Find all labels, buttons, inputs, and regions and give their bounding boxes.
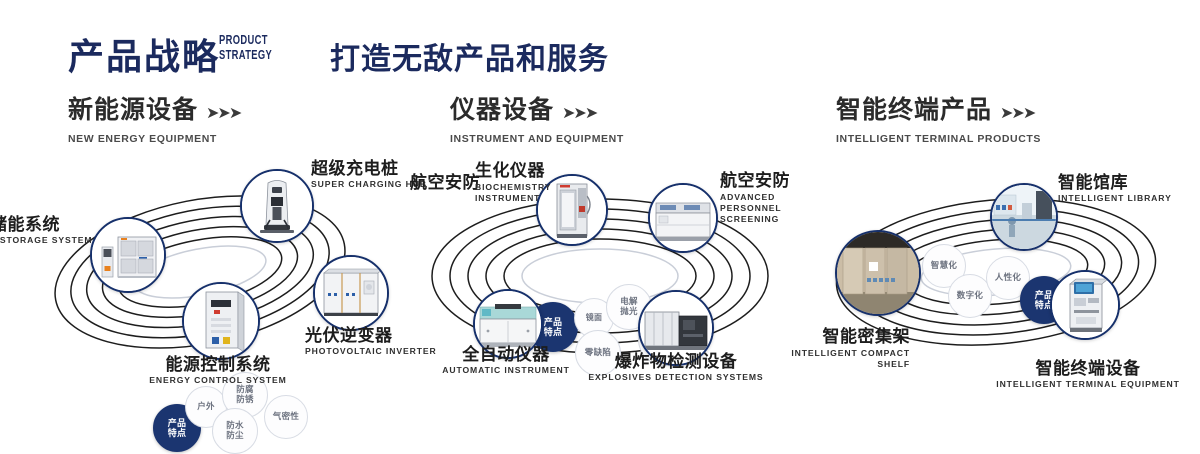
library-interior-photo [992,185,1056,249]
product-strategy-infographic: 产品战略 PRODUCT STRATEGY 打造无敌产品和服务 新能源设备➤➤➤… [0,0,1200,422]
feature-bubble-waterproof: 防水防尘 [212,408,258,454]
diagram-intelligent-terminal: 智慧化 数字化 人性化 产品特点 [800,150,1200,395]
node-label-aviation-security-left: 航空安防 [410,174,480,192]
page-title-en-line2: STRATEGY [219,47,272,62]
section-title-en: INSTRUMENT AND EQUIPMENT [450,133,624,145]
section-title-en: NEW ENERGY EQUIPMENT [68,133,240,145]
node-photo-compact-shelf[interactable] [835,230,921,316]
node-label-energy-storage: 储能系统 ENERGY STORAGE SYSTEM [0,216,60,245]
page-title-en: PRODUCT STRATEGY [219,32,272,62]
section-title-en: INTELLIGENT TERMINAL PRODUCTS [836,133,1041,145]
node-photo-terminal-equipment[interactable] [1050,270,1120,340]
node-photo-charging-hub[interactable] [240,169,314,243]
node-label-personnel-screening: 航空安防 ADVANCED PERSONNEL SCREENING [720,172,800,227]
node-photo-energy-control[interactable] [182,282,260,360]
section-title-instrument: 仪器设备➤➤➤ INSTRUMENT AND EQUIPMENT [450,96,624,145]
section-title-cn: 仪器设备➤➤➤ [450,96,624,128]
chevron-triple-icon: ➤➤➤ [562,105,596,122]
chevron-triple-icon: ➤➤➤ [206,105,240,122]
node-label-compact-shelf: 智能密集架 INTELLIGENT COMPACT SHELF [720,328,910,372]
node-photo-intelligent-library[interactable] [990,183,1058,251]
energy-storage-cabinet-photo [92,219,164,291]
node-photo-energy-storage[interactable] [90,217,166,293]
control-cabinet-photo [184,284,258,358]
screening-machine-photo [650,185,716,251]
ev-charging-pile-photo [242,171,312,241]
node-photo-personnel-screening[interactable] [648,183,718,253]
chevron-triple-icon: ➤➤➤ [1000,105,1034,122]
compact-shelving-photo [837,232,919,314]
node-label-automatic-instrument: 全自动仪器 AUTOMATIC INSTRUMENT [408,346,604,375]
node-label-intelligent-library: 智能馆库 INTELLIGENT LIBRARY [1058,174,1172,203]
feature-bubble-airtightness: 气密性 [264,395,308,439]
pv-inverter-cabinet-photo [315,257,387,329]
node-photo-pv-inverter[interactable] [313,255,389,331]
page-title-en-line1: PRODUCT [219,32,268,47]
section-title-intelligent-terminal: 智能终端产品➤➤➤ INTELLIGENT TERMINAL PRODUCTS [836,96,1041,145]
node-label-energy-control: 能源控制系统 ENERGY CONTROL SYSTEM [118,356,318,385]
diagram-new-energy: 产品特点 户外 防腐防锈 气密性 防水防尘 [0,150,400,395]
self-service-kiosk-photo [1052,272,1118,338]
section-title-cn: 智能终端产品➤➤➤ [836,96,1041,128]
section-title-cn: 新能源设备➤➤➤ [68,96,240,128]
node-label-terminal-equipment: 智能终端设备 INTELLIGENT TERMINAL EQUIPMENT [978,360,1198,389]
page-slogan: 打造无敌产品和服务 [330,34,609,78]
section-title-new-energy: 新能源设备➤➤➤ NEW ENERGY EQUIPMENT [68,96,240,145]
page-title-cn: 产品战略 [68,28,220,80]
node-label-biochemistry: 生化仪器 BIOCHEMISTRY INSTRUMENT [475,162,575,206]
